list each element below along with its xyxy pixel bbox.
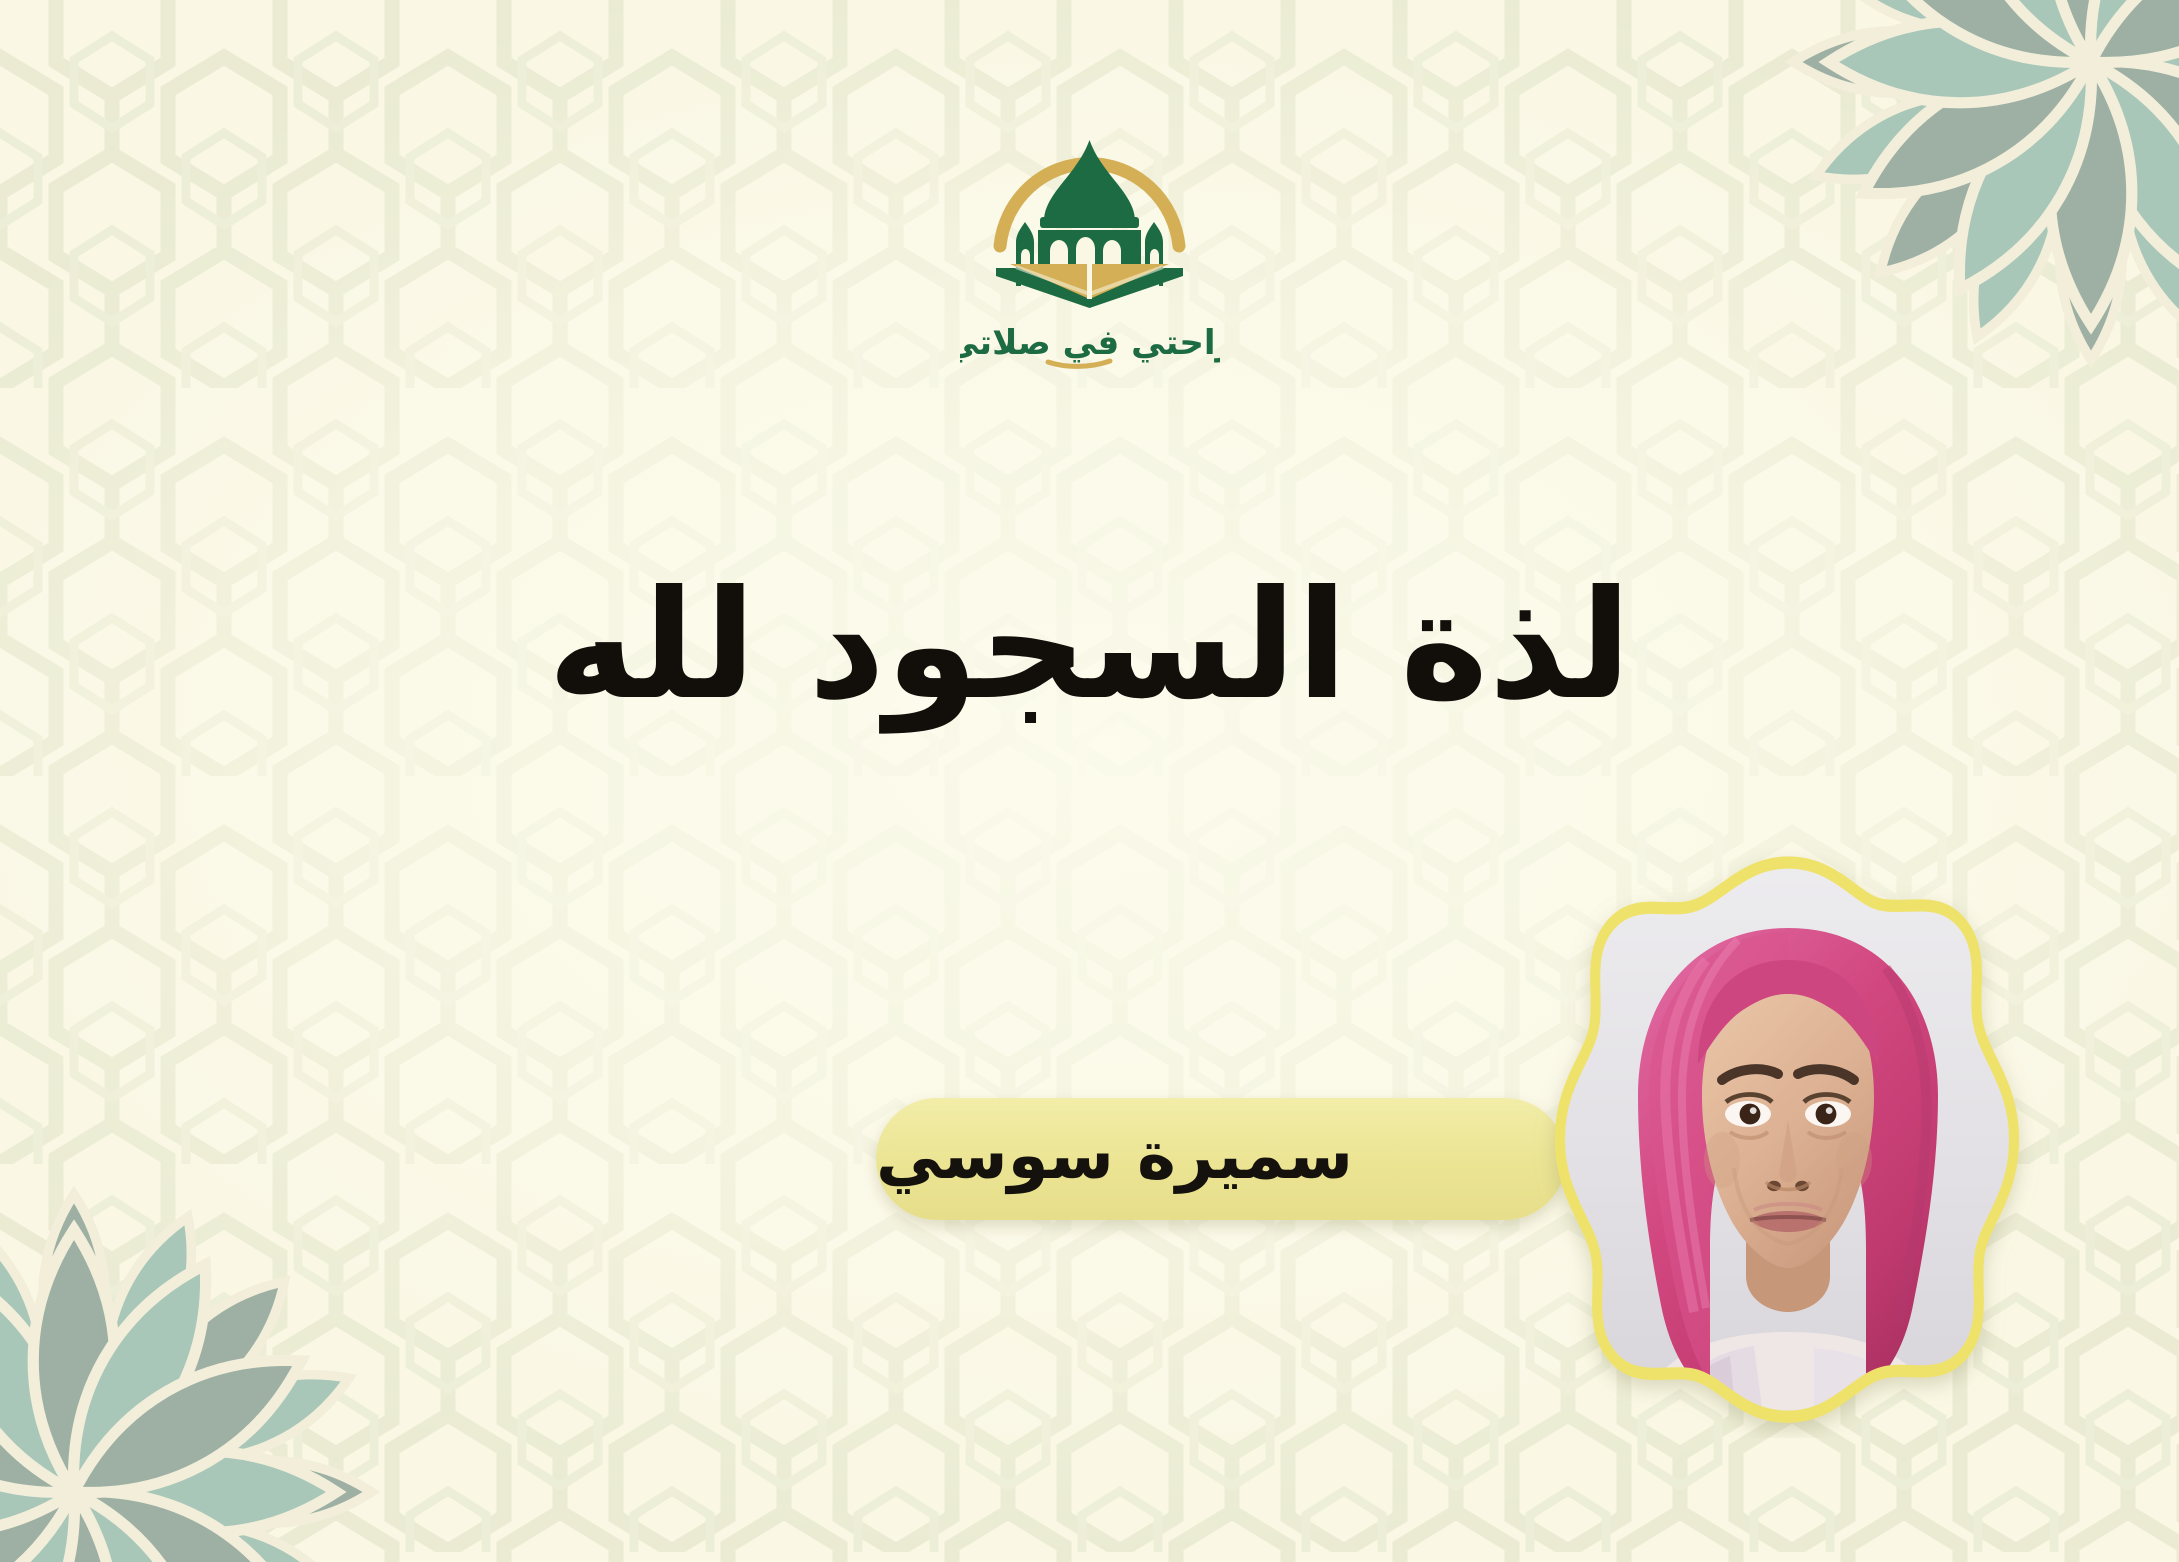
mosque-book-logo-icon (982, 118, 1197, 308)
portrait-frame-icon (1514, 848, 2062, 1438)
speaker-name: سميرة سوسي (876, 1123, 1353, 1195)
brand-logo: راحتي في صلاتي راحتي في صلاتي (960, 118, 1220, 372)
title-container: لذة السجود لله (0, 555, 2179, 738)
logo-tagline-text: راحتي في صلاتي (960, 323, 1220, 363)
portrait-photo (1514, 848, 2062, 1438)
poster-canvas: راحتي في صلاتي راحتي في صلاتي لذة السجود… (0, 0, 2179, 1562)
speaker-portrait (1514, 848, 2062, 1438)
speaker-name-badge: سميرة سوسي (876, 1098, 1566, 1220)
page-title: لذة السجود لله (548, 555, 1632, 738)
logo-tagline-icon: راحتي في صلاتي راحتي في صلاتي (960, 310, 1220, 372)
